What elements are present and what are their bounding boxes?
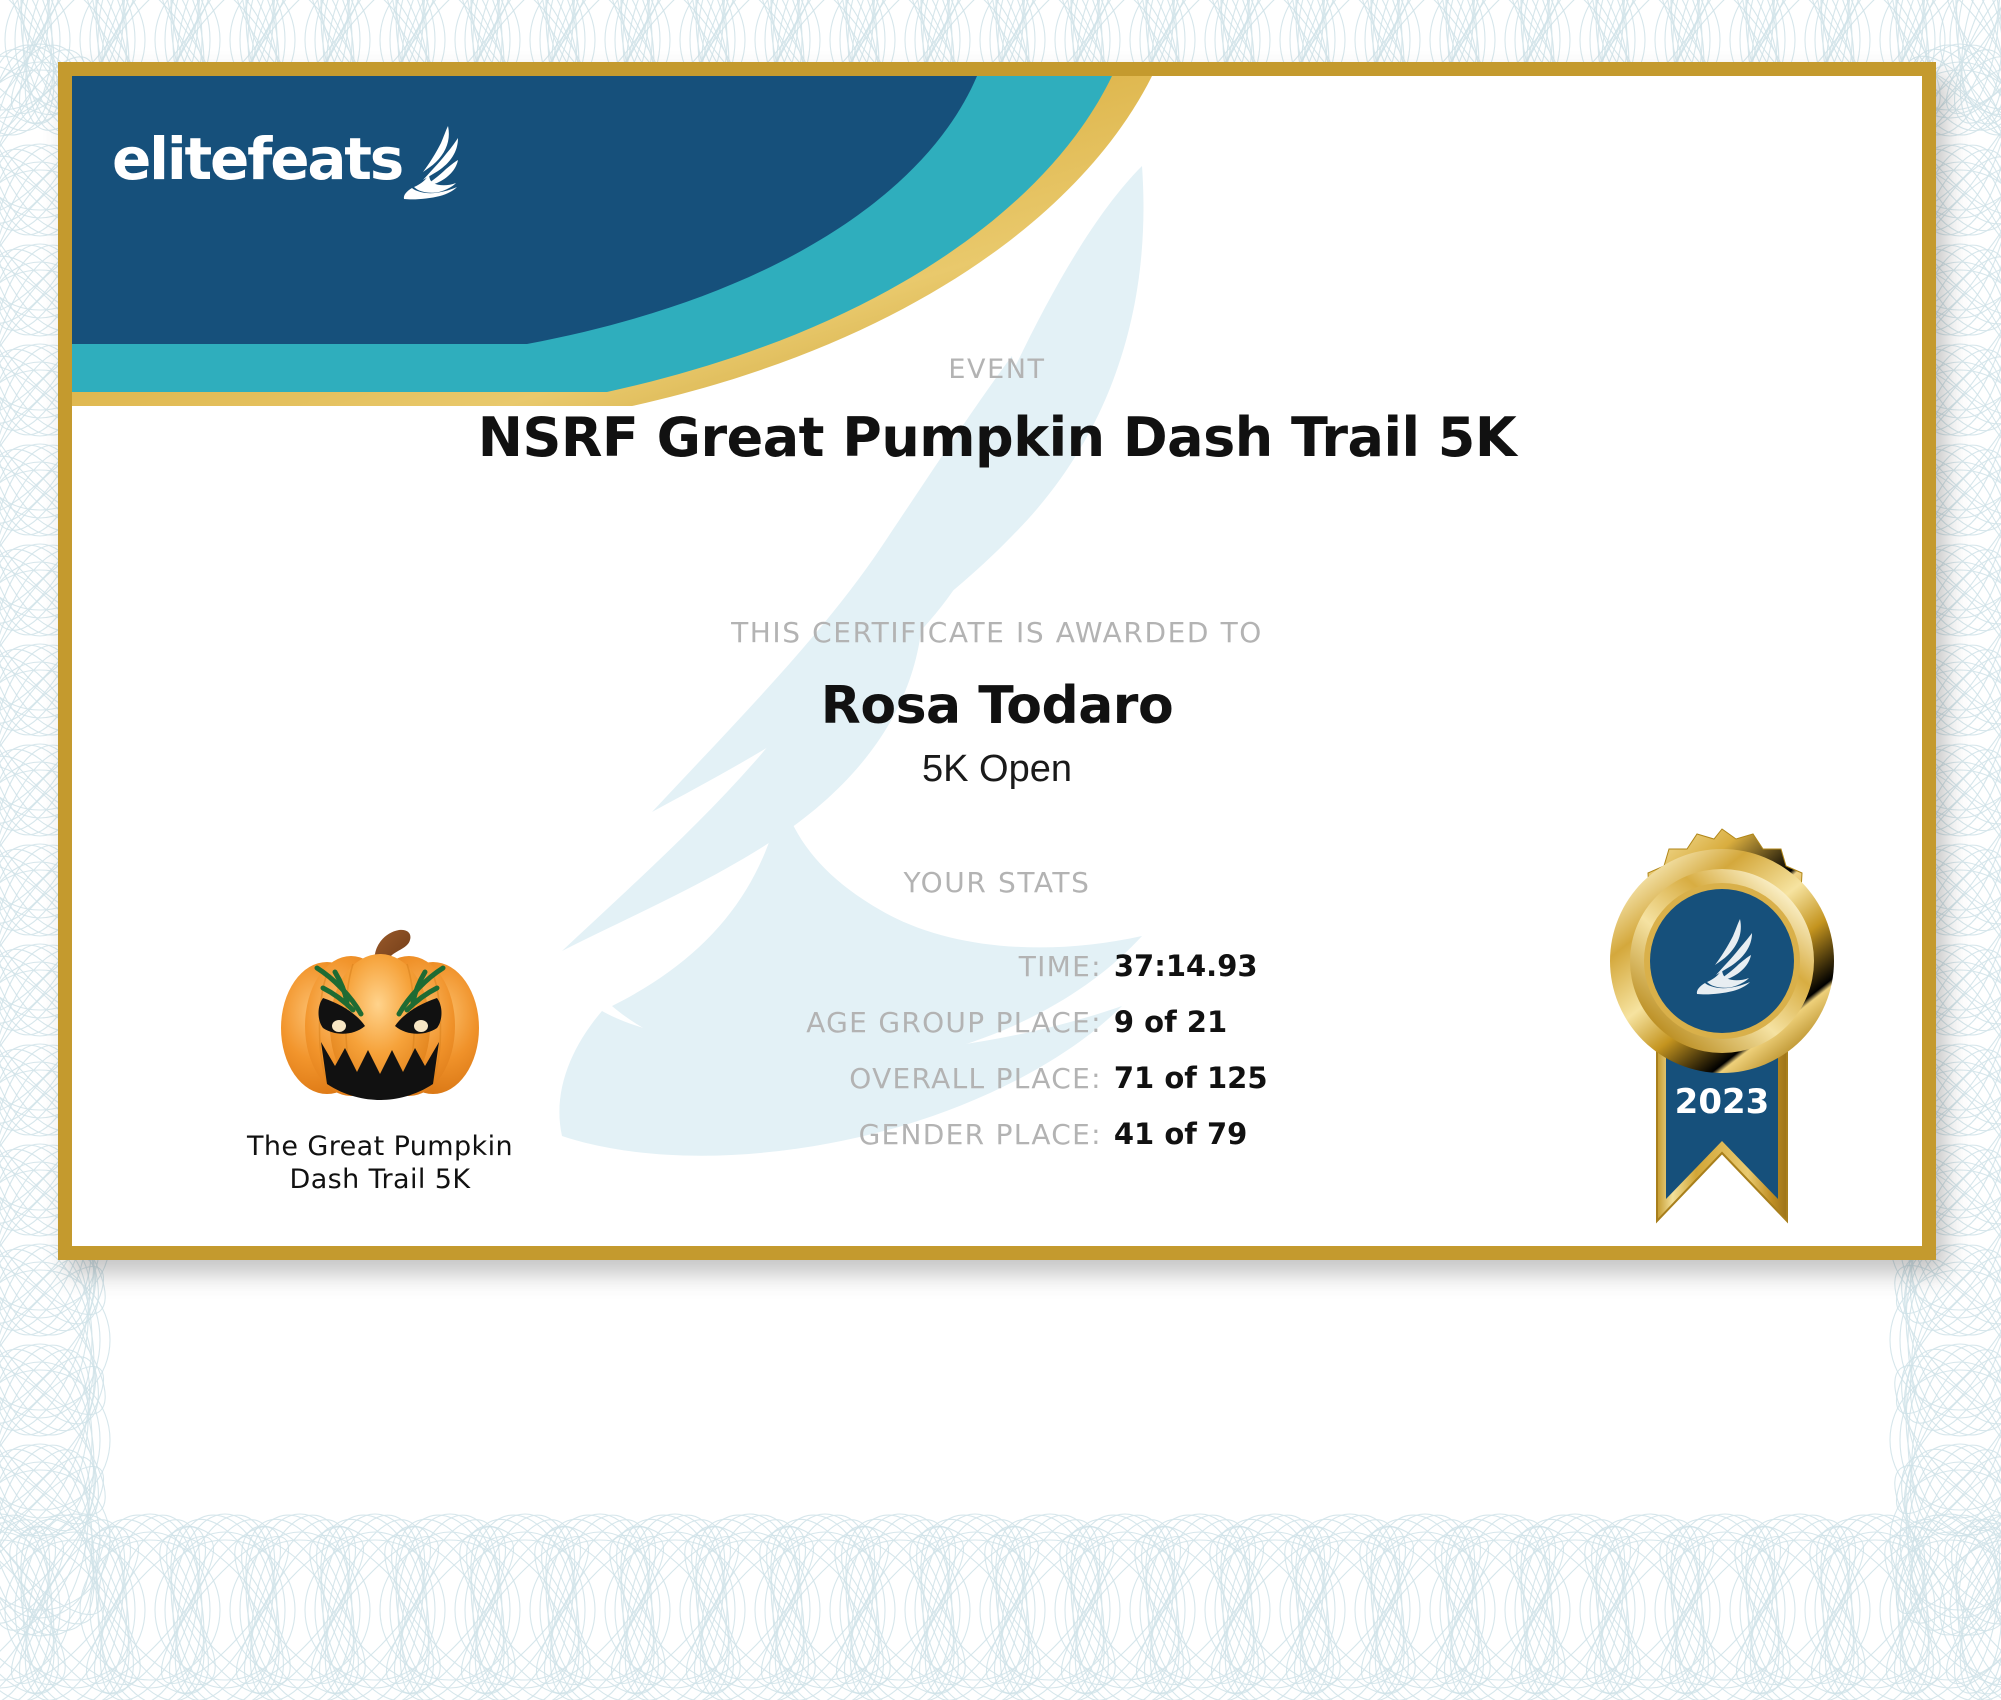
certificate-content: EVENT NSRF Great Pumpkin Dash Trail 5K T… [72, 76, 1922, 1246]
elitefeats-logo: elitefeats [112, 124, 466, 188]
stats-row-time: TIME: 37:14.93 [647, 938, 1347, 994]
stat-key-time: TIME: [647, 938, 1114, 994]
stat-value-time: 37:14.93 [1114, 938, 1347, 994]
awardee-name: Rosa Todaro [72, 676, 1922, 736]
stats-table: TIME: 37:14.93 AGE GROUP PLACE: 9 of 21 … [647, 938, 1347, 1162]
stat-key-overall-place: OVERALL PLACE: [647, 1050, 1114, 1106]
stat-key-age-group-place: AGE GROUP PLACE: [647, 994, 1114, 1050]
certificate-gold-frame: elitefeats EVENT NSRF Great Pumpkin Dash… [58, 62, 1936, 1260]
stat-value-gender-place: 41 of 79 [1114, 1106, 1347, 1162]
event-label: EVENT [72, 354, 1922, 385]
finisher-badge-block: 2023 FINISHER CERTIFICATE [1552, 821, 1892, 1246]
awarded-to-label: THIS CERTIFICATE IS AWARDED TO [72, 616, 1922, 649]
stats-row-overall-place: OVERALL PLACE: 71 of 125 [647, 1050, 1347, 1106]
stats-row-gender-place: GENDER PLACE: 41 of 79 [647, 1106, 1347, 1162]
stats-row-age-group-place: AGE GROUP PLACE: 9 of 21 [647, 994, 1347, 1050]
event-title: NSRF Great Pumpkin Dash Trail 5K [72, 406, 1922, 469]
stat-key-gender-place: GENDER PLACE: [647, 1106, 1114, 1162]
winged-foot-icon [396, 124, 466, 200]
event-logo-caption-line1: The Great Pumpkin [230, 1131, 530, 1164]
awardee-division: 5K Open [72, 748, 1922, 791]
event-logo-caption: The Great Pumpkin Dash Trail 5K [230, 1131, 530, 1197]
badge-year: 2023 [1675, 1082, 1770, 1122]
certificate-page: elitefeats EVENT NSRF Great Pumpkin Dash… [0, 0, 2001, 1700]
stat-value-age-group-place: 9 of 21 [1114, 994, 1347, 1050]
certificate-body: elitefeats EVENT NSRF Great Pumpkin Dash… [72, 76, 1922, 1246]
stat-value-overall-place: 71 of 125 [1114, 1050, 1347, 1106]
jack-o-lantern-icon [265, 916, 495, 1116]
event-logo-block: The Great Pumpkin Dash Trail 5K [230, 916, 530, 1197]
elitefeats-wordmark: elitefeats [112, 130, 402, 188]
event-logo-caption-line2: Dash Trail 5K [230, 1164, 530, 1197]
gold-medal-rosette-icon: 2023 [1562, 821, 1882, 1246]
